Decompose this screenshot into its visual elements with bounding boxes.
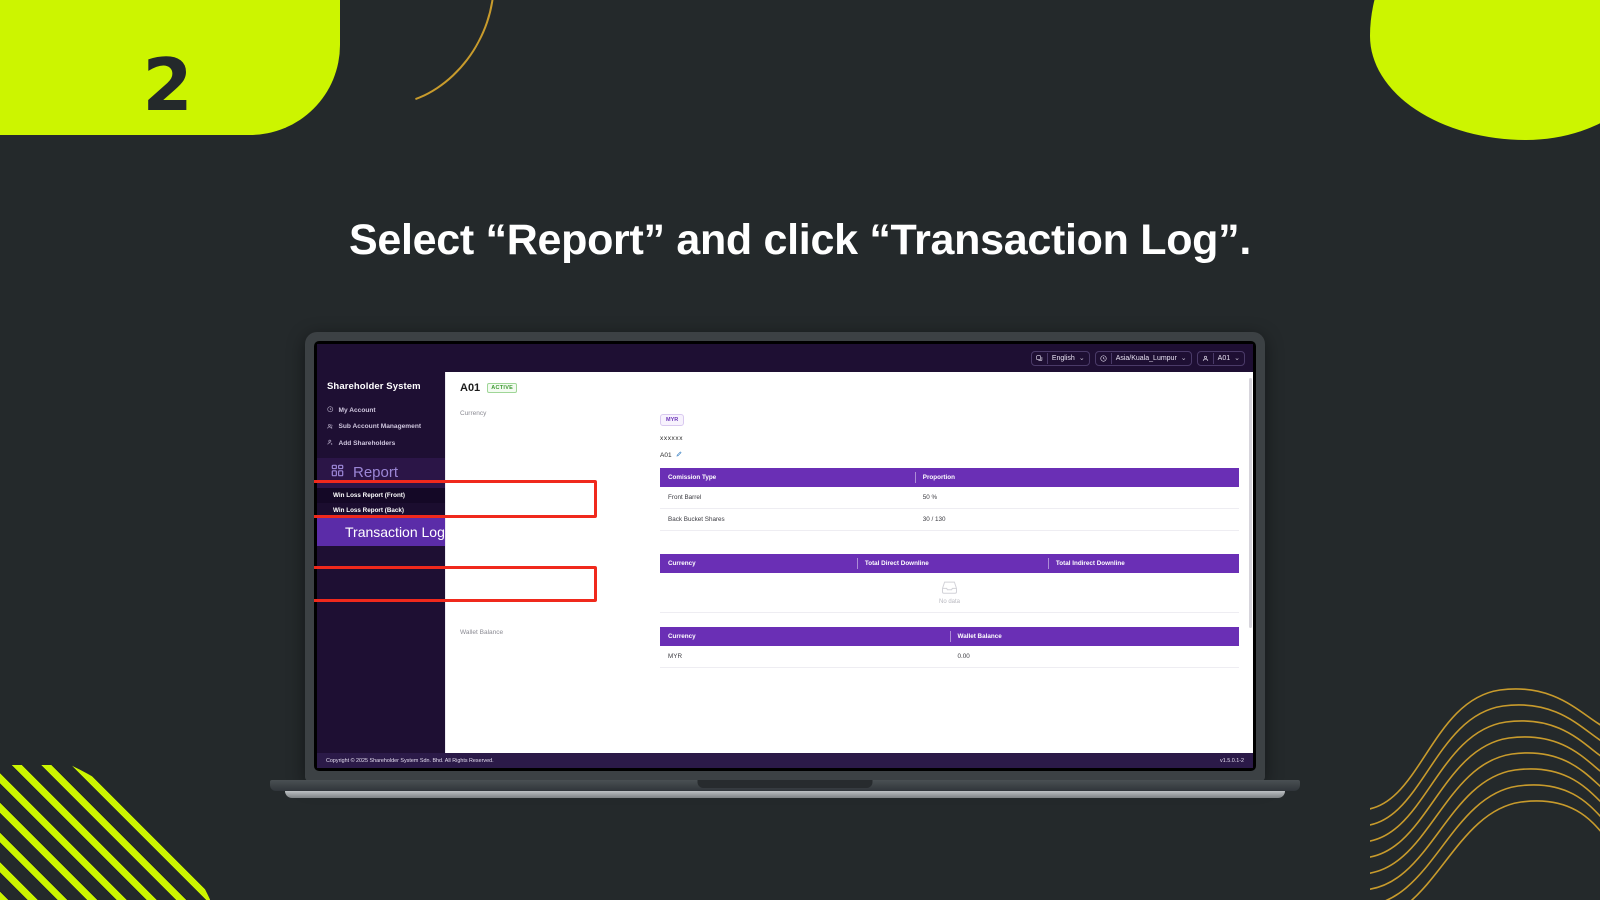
table-header-row: Currency Total Direct Downline Total Ind… <box>660 554 1239 573</box>
pencil-icon[interactable] <box>676 451 682 459</box>
sidebar-item-my-account[interactable]: My Account <box>317 402 445 419</box>
language-value: English <box>1052 355 1075 362</box>
currency-pill: MYR <box>660 414 684 426</box>
app-body: Shareholder System My Account <box>317 372 1253 753</box>
main-scroll-area[interactable]: A01 ACTIVE Currency MYR xxxxxx A01 <box>446 372 1253 753</box>
version-text: v1.5.0.1-2 <box>1220 758 1244 764</box>
copyright-text: Copyright © 2025 Shareholder System Sdn.… <box>326 758 494 764</box>
column-header: Proportion <box>915 468 1239 487</box>
lime-blob-decoration <box>1370 0 1600 140</box>
column-header: Total Direct Downline <box>857 554 1048 573</box>
sidebar: Shareholder System My Account <box>317 372 445 753</box>
lime-stripes-decoration <box>0 765 210 900</box>
clock-icon <box>1100 355 1107 362</box>
chevron-down-icon: ⌄ <box>1181 354 1187 362</box>
user-plus-icon <box>327 439 334 448</box>
status-badge: ACTIVE <box>487 383 517 393</box>
sidebar-item-label: Report <box>353 464 398 481</box>
masked-value: xxxxxx <box>660 435 1239 442</box>
grid-icon <box>331 464 344 481</box>
highlight-box-report <box>314 480 597 518</box>
sidebar-item-add-shareholders[interactable]: Add Shareholders <box>317 435 445 452</box>
table-empty-row: No data <box>660 573 1239 613</box>
slide-title: Select “Report” and click “Transaction L… <box>0 216 1600 265</box>
timezone-selector[interactable]: Asia/Kuala_Lumpur ⌄ <box>1095 351 1192 366</box>
user-menu[interactable]: A01 ⌄ <box>1197 351 1245 366</box>
clock-icon <box>327 406 334 415</box>
sidebar-item-label: My Account <box>339 407 376 414</box>
account-header: A01 ACTIVE <box>460 382 1239 394</box>
scrollbar[interactable] <box>1249 378 1252 628</box>
sidebar-item-sub-account-management[interactable]: Sub Account Management <box>317 419 445 436</box>
downline-table: Currency Total Direct Downline Total Ind… <box>660 554 1239 613</box>
language-selector[interactable]: English ⌄ <box>1031 351 1090 366</box>
inbox-icon <box>941 589 958 596</box>
username-row: A01 <box>660 451 1239 459</box>
table-header-row: Currency Wallet Balance <box>660 627 1239 646</box>
user-icon <box>1202 355 1209 362</box>
laptop-screen: English ⌄ Asia/Kuala_Lumpur ⌄ <box>314 341 1256 771</box>
translate-icon <box>1036 355 1043 362</box>
gold-waves-decoration <box>1370 660 1600 900</box>
cell-currency: MYR <box>660 646 950 668</box>
cell-proportion: 50 % <box>915 487 1239 509</box>
laptop-base <box>270 780 1300 816</box>
commission-table: Comission Type Proportion Front Barrel 5 <box>660 468 1239 531</box>
sidebar-item-label: Sub Account Management <box>339 423 422 430</box>
app-topbar: English ⌄ Asia/Kuala_Lumpur ⌄ <box>317 344 1253 372</box>
cell-proportion: 30 / 130 <box>915 509 1239 531</box>
column-header: Currency <box>660 627 950 646</box>
username-value: A01 <box>660 452 672 459</box>
laptop-mockup: English ⌄ Asia/Kuala_Lumpur ⌄ <box>270 332 1300 816</box>
step-number-badge: 2 <box>0 0 340 135</box>
laptop-lid: English ⌄ Asia/Kuala_Lumpur ⌄ <box>305 332 1265 781</box>
brand-title: Shareholder System <box>317 373 445 402</box>
wallet-table: Currency Wallet Balance MYR 0.00 <box>660 627 1239 668</box>
app-footer: Copyright © 2025 Shareholder System Sdn.… <box>317 753 1253 768</box>
step-number-text: 2 <box>142 49 192 121</box>
laptop-notch <box>698 780 873 788</box>
chevron-down-icon: ⌄ <box>1234 354 1240 362</box>
table-row: MYR 0.00 <box>660 646 1239 668</box>
sidebar-subitem-label: Transaction Log <box>345 524 445 540</box>
empty-label: No data <box>668 599 1231 605</box>
gold-arc-decoration <box>269 0 531 139</box>
cell-wallet-balance: 0.00 <box>950 646 1240 668</box>
chevron-down-icon: ⌄ <box>1079 354 1085 362</box>
table-header-row: Comission Type Proportion <box>660 468 1239 487</box>
sidebar-item-label: Add Shareholders <box>339 440 396 447</box>
table-row: Back Bucket Shares 30 / 130 <box>660 509 1239 531</box>
column-header: Wallet Balance <box>950 627 1240 646</box>
cell-commission-type: Back Bucket Shares <box>660 509 915 531</box>
column-header: Total Indirect Downline <box>1048 554 1239 573</box>
table-row: Front Barrel 50 % <box>660 487 1239 509</box>
highlight-box-transaction-log <box>314 566 597 602</box>
users-icon <box>327 423 334 432</box>
user-value: A01 <box>1218 355 1230 362</box>
main-content: A01 ACTIVE Currency MYR xxxxxx A01 <box>445 372 1253 753</box>
column-header: Currency <box>660 554 857 573</box>
column-header: Comission Type <box>660 468 915 487</box>
wallet-section-label: Wallet Balance <box>460 627 660 668</box>
wallet-field-row: Wallet Balance Currency Wallet Balance <box>460 627 1239 668</box>
cell-commission-type: Front Barrel <box>660 487 915 509</box>
timezone-value: Asia/Kuala_Lumpur <box>1116 355 1177 362</box>
account-id: A01 <box>460 382 480 394</box>
app-window: English ⌄ Asia/Kuala_Lumpur ⌄ <box>317 344 1253 768</box>
